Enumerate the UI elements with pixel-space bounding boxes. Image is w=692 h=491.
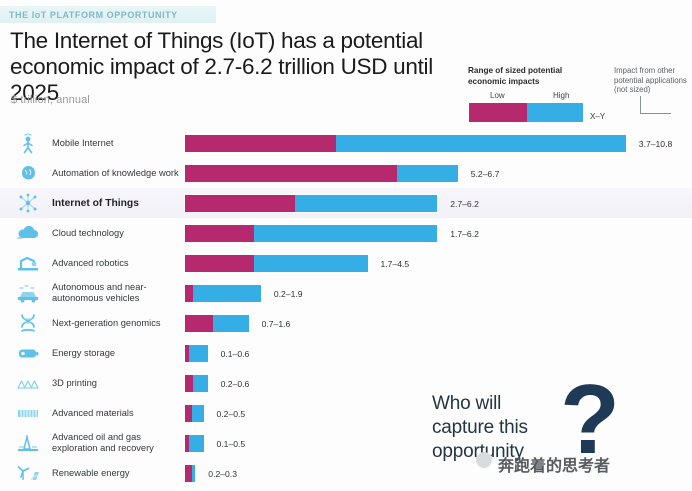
chart-row: Automation of knowledge work5.2–6.7	[0, 158, 692, 188]
chart-bar-area: 1.7–6.2	[184, 218, 692, 248]
bar-segment-high	[213, 315, 249, 332]
legend-color-bar	[468, 102, 584, 123]
infographic-root: THE IoT PLATFORM OPPORTUNITY The Interne…	[0, 0, 692, 491]
chart-value-label: 1.7–6.2	[446, 227, 479, 240]
bar-segment-high	[254, 255, 368, 272]
bar-segment-low	[185, 225, 254, 242]
legend: Range of sized potential economic impact…	[468, 66, 592, 123]
bar-segment-low	[185, 255, 254, 272]
renewable-energy-icon	[8, 458, 48, 488]
watermark-avatar	[476, 452, 492, 468]
legend-low-label: Low	[490, 91, 505, 100]
bar-segment-low	[185, 195, 295, 212]
bar-segment-low	[185, 405, 192, 422]
chart-bar	[184, 434, 205, 453]
legend-high-label: High	[553, 91, 569, 100]
chart-bar	[184, 134, 627, 153]
chart-bar	[184, 464, 196, 483]
cloud-icon	[8, 218, 48, 248]
chart-value-label: 0.1–0.6	[217, 347, 250, 360]
chart-category-label: Advanced materials	[52, 398, 180, 428]
bar-segment-high	[192, 465, 195, 482]
chart-category-label: Advanced oil and gas exploration and rec…	[52, 428, 180, 458]
chart-bar	[184, 404, 205, 423]
legend-swatch-low	[469, 103, 527, 122]
person-wifi-icon	[8, 128, 48, 158]
bar-segment-low	[185, 375, 193, 392]
section-banner: THE IoT PLATFORM OPPORTUNITY	[0, 6, 216, 23]
chart-category-label: Internet of Things	[52, 188, 180, 218]
bar-segment-low	[185, 135, 336, 152]
chart-category-label: Advanced robotics	[52, 248, 180, 278]
chart-bar	[184, 194, 438, 213]
chart-row: Mobile Internet3.7–10.8	[0, 128, 692, 158]
chart-units-label: $ trillion, annual	[11, 94, 90, 106]
chart-value-label: 3.7–10.8	[635, 137, 672, 150]
legend-scale-labels: Low High	[468, 91, 584, 101]
chart-category-label: Automation of knowledge work	[52, 158, 180, 188]
oil-rig-icon	[8, 428, 48, 458]
chart-category-label: Energy storage	[52, 338, 180, 368]
chart-row: Autonomous and near-autonomous vehicles0…	[0, 278, 692, 308]
legend-swatch-high	[527, 103, 583, 122]
bar-segment-high	[254, 225, 437, 242]
chart-bar	[184, 164, 459, 183]
chart-value-label: 0.7–1.6	[258, 317, 291, 330]
chart-bar	[184, 254, 369, 273]
chart-bar	[184, 374, 209, 393]
chart-category-label: 3D printing	[52, 368, 180, 398]
bar-segment-low	[185, 285, 193, 302]
bar-segment-high	[295, 195, 437, 212]
chart-bar-area: 2.7–6.2	[184, 188, 692, 218]
chart-category-label: Cloud technology	[52, 218, 180, 248]
chart-bar	[184, 284, 262, 303]
chart-category-label: Autonomous and near-autonomous vehicles	[52, 278, 180, 308]
chart-bar	[184, 224, 438, 243]
watermark-text: 奔跑着的思考者	[498, 452, 610, 476]
chart-bar-area: 1.7–4.5	[184, 248, 692, 278]
brain-icon	[8, 158, 48, 188]
bar-segment-high	[189, 435, 204, 452]
callout-line-2: capture this	[432, 416, 528, 440]
callout-line-1: Who will	[432, 392, 528, 416]
chart-value-label: 0.2–0.6	[217, 377, 250, 390]
xy-marker-label: X–Y	[588, 110, 617, 123]
chart-row: Next-generation genomics0.7–1.6	[0, 308, 692, 338]
chart-value-label: 5.2–6.7	[467, 167, 500, 180]
chart-bar-area: 0.7–1.6	[184, 308, 692, 338]
network-nodes-icon	[8, 188, 48, 218]
chart-row: Internet of Things2.7–6.2	[0, 188, 692, 218]
bar-segment-low	[185, 165, 397, 182]
chart-category-label: Next-generation genomics	[52, 308, 180, 338]
3d-printer-icon	[8, 368, 48, 398]
chart-value-label: 1.7–4.5	[377, 257, 410, 270]
chart-bar	[184, 344, 209, 363]
chart-row: Cloud technology1.7–6.2	[0, 218, 692, 248]
bar-segment-low	[185, 315, 213, 332]
banner-label: THE IoT PLATFORM OPPORTUNITY	[9, 10, 178, 20]
chart-value-label: 0.2–0.5	[213, 407, 246, 420]
dna-icon	[8, 308, 48, 338]
chart-value-label: 0.1–0.5	[213, 437, 246, 450]
chart-value-label: 0.2–0.3	[204, 467, 237, 480]
legend-note: Impact from other potential applications…	[614, 66, 692, 95]
chart-value-label: 2.7–6.2	[446, 197, 479, 210]
chart-category-label: Mobile Internet	[52, 128, 180, 158]
chart-bar	[184, 314, 250, 333]
robot-arm-icon	[8, 248, 48, 278]
bar-segment-high	[193, 375, 208, 392]
bar-segment-low	[185, 465, 192, 482]
bar-segment-high	[193, 285, 261, 302]
bar-segment-high	[189, 345, 208, 362]
xy-marker: X–Y	[588, 110, 617, 123]
autonomous-car-icon	[8, 278, 48, 308]
legend-title: Range of sized potential economic impact…	[468, 66, 592, 87]
battery-icon	[8, 338, 48, 368]
bar-segment-high	[192, 405, 203, 422]
chart-value-label: 0.2–1.9	[270, 287, 303, 300]
callout-leader-line	[640, 96, 671, 114]
chart-category-label: Renewable energy	[52, 458, 180, 488]
chart-bar-area: 0.2–1.9	[184, 278, 692, 308]
bar-segment-high	[336, 135, 626, 152]
materials-grid-icon	[8, 398, 48, 428]
bar-segment-high	[397, 165, 458, 182]
chart-bar-area: 5.2–6.7	[184, 158, 692, 188]
chart-row: Advanced robotics1.7–4.5	[0, 248, 692, 278]
chart-bar-area: 3.7–10.8	[184, 128, 692, 158]
